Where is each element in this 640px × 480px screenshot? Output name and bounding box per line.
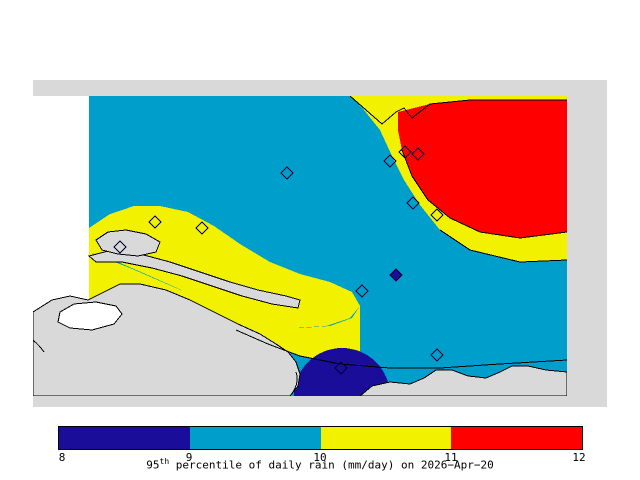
land-bottom-strip bbox=[33, 396, 607, 407]
colorbar-segment-8-9 bbox=[59, 427, 190, 449]
colorbar: 8 9 10 11 12 bbox=[58, 426, 583, 450]
colorbar-caption: 95th percentile of daily rain (mm/day) o… bbox=[0, 457, 640, 472]
colorbar-caption-prefix: 95 bbox=[146, 459, 159, 472]
colorbar-gradient bbox=[58, 426, 583, 450]
land-east-margin bbox=[567, 96, 607, 407]
land-top-strip bbox=[33, 80, 607, 96]
mask-left bbox=[0, 0, 33, 412]
mask-bottom bbox=[0, 407, 640, 412]
map-svg bbox=[0, 0, 640, 412]
weather-map-page: VictoriaWeather.ca -- Summer Total Daily… bbox=[0, 0, 640, 480]
mask-right bbox=[607, 0, 640, 412]
colorbar-caption-rest: percentile of daily rain (mm/day) on 202… bbox=[169, 459, 494, 472]
colorbar-segment-10-11 bbox=[321, 427, 452, 449]
colorbar-segment-11-12 bbox=[451, 427, 582, 449]
colorbar-segment-9-10 bbox=[190, 427, 321, 449]
map-canvas bbox=[0, 0, 640, 412]
colorbar-caption-superscript: th bbox=[160, 457, 170, 466]
